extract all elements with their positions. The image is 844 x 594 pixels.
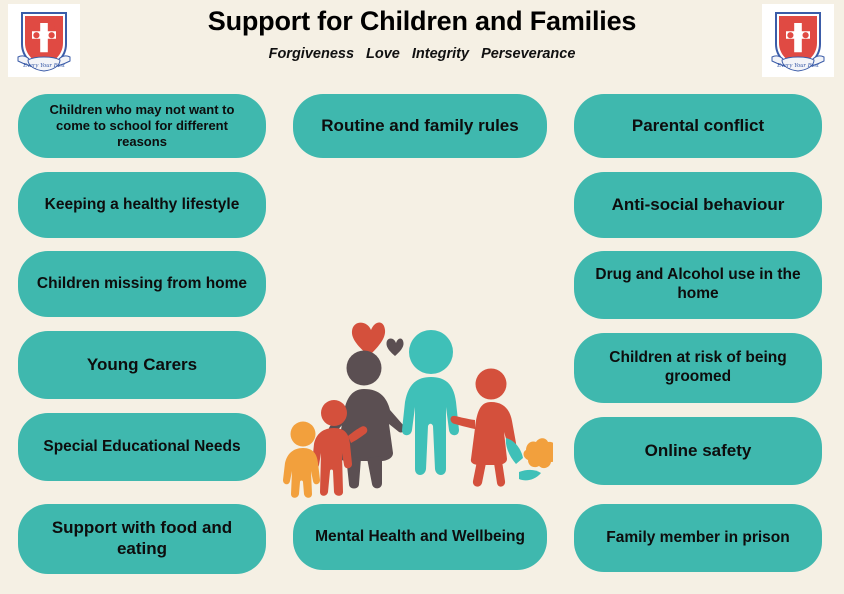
topic-pill[interactable]: Children at risk of being groomed (574, 333, 822, 403)
topic-pill[interactable]: Keeping a healthy lifestyle (18, 172, 266, 238)
topic-pill[interactable]: Mental Health and Wellbeing (293, 504, 547, 570)
topic-pill-label: Mental Health and Wellbeing (315, 528, 525, 547)
family-group-illustration (283, 306, 553, 501)
topic-pill[interactable]: Children who may not want to come to sch… (18, 94, 266, 158)
school-values-line: ForgivenessLoveIntegrityPerseverance (100, 38, 744, 62)
topic-pill[interactable]: Young Carers (18, 331, 266, 399)
figure-father-teal (402, 330, 459, 475)
topic-pill[interactable]: Children missing from home (18, 251, 266, 317)
heart-small-icon (386, 339, 403, 357)
figure-toddler-orange (283, 422, 320, 498)
topic-pill[interactable]: Drug and Alcohol use in the home (574, 251, 822, 319)
figure-girl-red (451, 369, 517, 487)
topic-pill[interactable]: Online safety (574, 417, 822, 485)
topic-pill-label: Online safety (645, 441, 752, 462)
school-value-4: Perseverance (475, 46, 581, 62)
school-crest-icon: Every Your Best (762, 4, 834, 77)
topic-pill-label: Family member in prison (606, 529, 789, 548)
topic-pill-label: Keeping a healthy lifestyle (45, 196, 240, 215)
topic-pill[interactable]: Routine and family rules (293, 94, 547, 158)
topic-pill[interactable]: Special Educational Needs (18, 413, 266, 481)
topic-pill-label: Support with food and eating (32, 518, 252, 559)
family-illustration-icon (283, 306, 553, 501)
topic-pill-label: Parental conflict (632, 116, 764, 137)
school-crest-logo-right: Every Your Best (762, 4, 834, 77)
school-value-2: Love (360, 46, 406, 62)
heart-large-icon (352, 323, 385, 357)
topic-pill-label: Special Educational Needs (43, 438, 240, 457)
svg-text:Every Your Best: Every Your Best (22, 62, 65, 69)
topic-column-right: Parental conflictAnti-social behaviourDr… (574, 84, 822, 594)
school-value-3: Integrity (406, 46, 475, 62)
topic-pill-label: Young Carers (87, 355, 197, 376)
topic-column-left: Children who may not want to come to sch… (18, 84, 266, 594)
topic-pill-label: Routine and family rules (321, 116, 518, 137)
topic-pill-label: Children missing from home (37, 275, 247, 294)
page-header: Every Your Best Every Your Best Support … (0, 0, 844, 84)
topic-pill[interactable]: Parental conflict (574, 94, 822, 158)
school-crest-logo-left: Every Your Best (8, 4, 80, 77)
topic-pill-label: Children at risk of being groomed (588, 349, 808, 387)
school-crest-icon: Every Your Best (8, 4, 80, 77)
page-title: Support for Children and Families (100, 0, 744, 38)
flower-icon (506, 438, 553, 480)
topic-pill-label: Anti-social behaviour (612, 195, 785, 216)
topic-pill-label: Drug and Alcohol use in the home (588, 266, 808, 304)
topic-board: Children who may not want to come to sch… (0, 84, 844, 594)
title-block: Support for Children and Families Forgiv… (100, 0, 744, 62)
svg-text:Every Your Best: Every Your Best (776, 62, 819, 69)
topic-pill[interactable]: Family member in prison (574, 504, 822, 572)
topic-pill-label: Children who may not want to come to sch… (32, 102, 252, 150)
topic-pill[interactable]: Support with food and eating (18, 504, 266, 574)
school-value-1: Forgiveness (263, 46, 360, 62)
topic-pill[interactable]: Anti-social behaviour (574, 172, 822, 238)
